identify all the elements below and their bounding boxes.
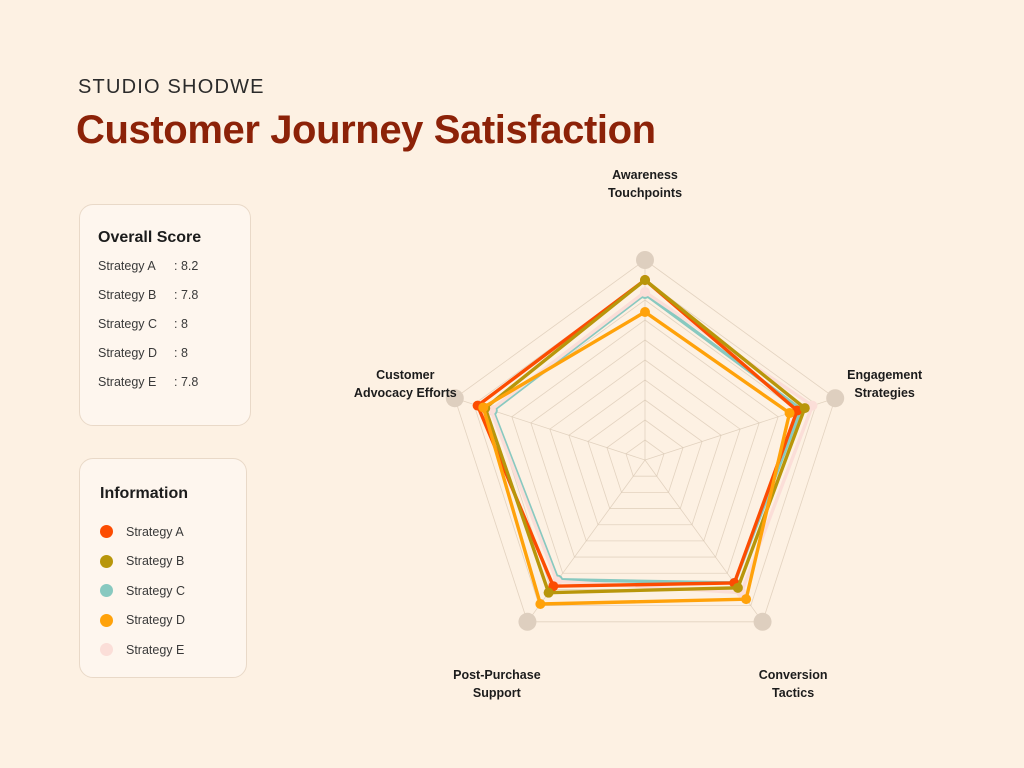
legend-item-strategy-a[interactable]: Strategy A: [100, 517, 246, 547]
legend-color-swatch-icon: [100, 584, 113, 597]
radar-series-point: [785, 408, 795, 418]
page-title: Customer Journey Satisfaction: [76, 108, 656, 153]
overall-score-title: Overall Score: [98, 229, 250, 247]
score-row-label: Strategy C: [98, 317, 174, 331]
radar-axis-label-2: Conversion Tactics: [703, 666, 883, 702]
radar-series-point: [535, 599, 545, 609]
radar-axis-vertex-dot: [754, 613, 772, 631]
legend-item-label: Strategy B: [126, 554, 184, 568]
legend-item-strategy-b[interactable]: Strategy B: [100, 547, 246, 577]
score-row-value: : 7.8: [174, 288, 198, 302]
score-row-label: Strategy D: [98, 346, 174, 360]
radar-series-point: [733, 583, 743, 593]
radar-series-point: [544, 588, 554, 598]
overall-score-card: Overall Score Strategy A: 8.2Strategy B:…: [79, 204, 251, 426]
score-row: Strategy D: 8: [98, 346, 250, 375]
score-row-label: Strategy E: [98, 375, 174, 389]
radar-chart: Awareness TouchpointsEngagement Strategi…: [280, 185, 1020, 695]
poster-canvas: STUDIO SHODWE Customer Journey Satisfact…: [0, 0, 1024, 768]
legend-item-strategy-d[interactable]: Strategy D: [100, 606, 246, 636]
legend-item-label: Strategy D: [126, 613, 185, 627]
radar-series-point: [640, 307, 650, 317]
radar-axis-vertex-dot: [518, 613, 536, 631]
radar-axis-label-1: Engagement Strategies: [795, 366, 975, 402]
brand-eyebrow: STUDIO SHODWE: [78, 76, 265, 99]
legend-item-label: Strategy A: [126, 525, 184, 539]
legend-item-strategy-e[interactable]: Strategy E: [100, 635, 246, 665]
radar-axis-label-3: Post-Purchase Support: [407, 666, 587, 702]
legend-color-swatch-icon: [100, 525, 113, 538]
legend-color-swatch-icon: [100, 555, 113, 568]
legend-color-swatch-icon: [100, 643, 113, 656]
radar-axis-vertex-dot: [636, 251, 654, 269]
radar-series-point: [800, 403, 810, 413]
score-row-value: : 8: [174, 346, 188, 360]
score-row: Strategy B: 7.8: [98, 288, 250, 317]
legend-item-label: Strategy C: [126, 584, 185, 598]
radar-series-point: [741, 594, 751, 604]
legend-color-swatch-icon: [100, 614, 113, 627]
overall-score-list: Strategy A: 8.2Strategy B: 7.8Strategy C…: [80, 259, 250, 404]
radar-chart-svg: [280, 185, 1020, 695]
radar-series-point: [640, 275, 650, 285]
score-row-label: Strategy B: [98, 288, 174, 302]
legend-item-strategy-c[interactable]: Strategy C: [100, 576, 246, 606]
score-row-value: : 8.2: [174, 259, 198, 273]
radar-series-point: [640, 287, 650, 297]
radar-series-point: [478, 402, 488, 412]
score-row: Strategy C: 8: [98, 317, 250, 346]
score-row: Strategy E: 7.8: [98, 375, 250, 404]
information-title: Information: [100, 485, 246, 503]
legend-list: Strategy AStrategy BStrategy CStrategy D…: [80, 517, 246, 665]
radar-axis-label-0: Awareness Touchpoints: [555, 166, 735, 202]
score-row: Strategy A: 8.2: [98, 259, 250, 288]
legend-item-label: Strategy E: [126, 643, 184, 657]
radar-axis-label-4: Customer Advocacy Efforts: [315, 366, 495, 402]
score-row-value: : 8: [174, 317, 188, 331]
score-row-label: Strategy A: [98, 259, 174, 273]
information-legend-card: Information Strategy AStrategy BStrategy…: [79, 458, 247, 678]
score-row-value: : 7.8: [174, 375, 198, 389]
